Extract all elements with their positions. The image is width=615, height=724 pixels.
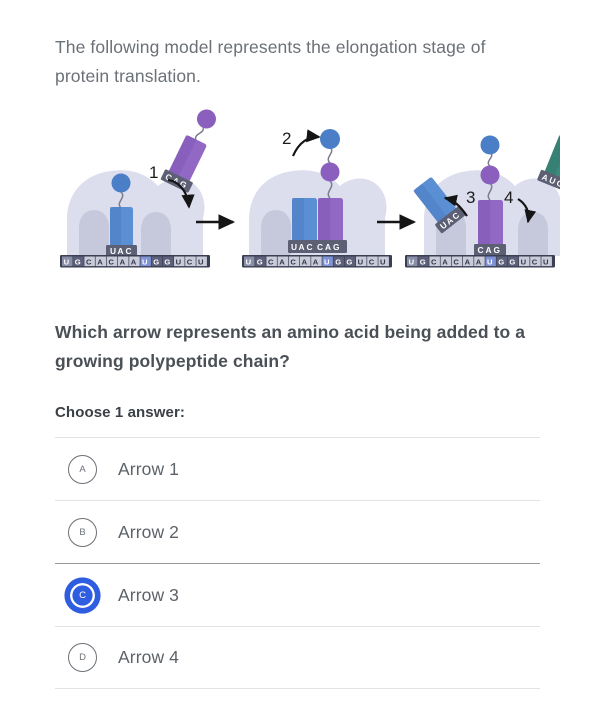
- answer-list: A Arrow 1 B Arrow 2 C Arrow 3 D: [55, 437, 540, 689]
- panel-3: U A C: [405, 108, 560, 267]
- radio-c[interactable]: C: [68, 581, 97, 610]
- panel-1: U A C C A: [60, 108, 225, 268]
- svg-text:A: A: [97, 257, 103, 266]
- amino-acid-purple-ball: [481, 166, 500, 185]
- question-line-1: Which arrow represents an amino acid bei…: [55, 318, 560, 347]
- svg-text:A: A: [325, 242, 331, 252]
- svg-text:A: A: [486, 245, 492, 255]
- svg-text:C: C: [187, 257, 193, 266]
- svg-text:C: C: [108, 257, 114, 266]
- svg-text:U: U: [358, 257, 364, 266]
- question-text: Which arrow represents an amino acid bei…: [55, 318, 560, 376]
- svg-text:U: U: [198, 257, 204, 266]
- svg-text:G: G: [509, 257, 515, 266]
- svg-text:G: G: [335, 257, 341, 266]
- svg-text:U: U: [176, 257, 182, 266]
- svg-text:C: C: [369, 257, 375, 266]
- svg-text:U: U: [64, 257, 70, 266]
- svg-text:G: G: [153, 257, 159, 266]
- answer-option-b[interactable]: B Arrow 2: [55, 500, 540, 563]
- panel-2: U A C C A G 2: [242, 129, 392, 268]
- svg-text:A: A: [131, 257, 137, 266]
- svg-text:U: U: [487, 257, 493, 266]
- svg-text:A: A: [442, 257, 448, 266]
- arrow-1-label: 1: [149, 163, 158, 182]
- radio-c-letter: C: [79, 590, 86, 601]
- amino-acid-purple-ball: [321, 163, 340, 182]
- svg-text:C: C: [86, 257, 92, 266]
- svg-text:C: C: [307, 242, 313, 252]
- svg-text:C: C: [431, 257, 437, 266]
- svg-text:G: G: [75, 257, 81, 266]
- answer-option-d[interactable]: D Arrow 4: [55, 626, 540, 689]
- radio-b-letter: B: [79, 527, 85, 538]
- arrow-2-label: 2: [282, 129, 291, 148]
- svg-text:C: C: [532, 257, 538, 266]
- svg-text:C: C: [478, 245, 484, 255]
- question-line-2: growing polypeptide chain?: [55, 347, 560, 376]
- svg-text:U: U: [110, 246, 116, 256]
- svg-text:G: G: [346, 257, 352, 266]
- answer-option-c[interactable]: C Arrow 3: [55, 563, 540, 626]
- svg-text:U: U: [380, 257, 386, 266]
- svg-text:A: A: [118, 246, 124, 256]
- svg-text:A: A: [302, 257, 308, 266]
- radio-a[interactable]: A: [68, 455, 97, 484]
- svg-text:A: A: [279, 257, 285, 266]
- svg-text:A: A: [120, 257, 126, 266]
- svg-text:G: G: [333, 242, 340, 252]
- radio-d-letter: D: [79, 652, 86, 663]
- amino-acid-purple-ball: [194, 108, 219, 132]
- translation-diagram-svg: U A C C A: [55, 108, 560, 288]
- svg-text:G: G: [164, 257, 170, 266]
- arrow-3-label: 3: [466, 188, 475, 207]
- svg-text:U: U: [291, 242, 297, 252]
- trna-green-incoming: A U G: [537, 108, 560, 192]
- answer-option-a[interactable]: A Arrow 1: [55, 437, 540, 500]
- amino-acid-blue-ball: [320, 129, 340, 149]
- svg-text:U: U: [142, 257, 148, 266]
- prompt-line-2: protein translation.: [55, 62, 560, 91]
- radio-b[interactable]: B: [68, 518, 97, 547]
- svg-text:U: U: [246, 257, 252, 266]
- svg-text:U: U: [409, 257, 415, 266]
- anticodon-platform: U A C C A G: [288, 240, 347, 253]
- svg-text:U: U: [543, 257, 549, 266]
- translation-diagram: U A C C A: [55, 108, 560, 288]
- svg-text:C: C: [268, 257, 274, 266]
- anticodon-cag: C A G: [474, 244, 506, 256]
- anticodon-uac: U A C: [106, 245, 137, 257]
- svg-text:A: A: [313, 257, 319, 266]
- svg-text:U: U: [324, 257, 330, 266]
- mrna-strand-3: U G C A C A A U: [405, 255, 555, 268]
- svg-text:G: G: [498, 257, 504, 266]
- svg-text:C: C: [317, 242, 323, 252]
- amino-acid-blue-ball: [112, 174, 131, 193]
- svg-text:C: C: [290, 257, 296, 266]
- mrna-strand-2: U G C A C A A U: [242, 255, 392, 268]
- svg-text:A: A: [465, 257, 471, 266]
- svg-text:C: C: [453, 257, 459, 266]
- content-column: The following model represents the elong…: [55, 0, 560, 689]
- choose-answer-label: Choose 1 answer:: [55, 402, 560, 423]
- prompt-text: The following model represents the elong…: [55, 33, 560, 91]
- svg-text:G: G: [494, 245, 501, 255]
- svg-text:G: G: [420, 257, 426, 266]
- svg-text:A: A: [299, 242, 305, 252]
- svg-text:G: G: [257, 257, 263, 266]
- arrow-2: 2: [282, 129, 319, 156]
- answer-b-label: Arrow 2: [118, 522, 179, 543]
- radio-d[interactable]: D: [68, 643, 97, 672]
- arrow-4-label: 4: [504, 188, 513, 207]
- question-page: The following model represents the elong…: [0, 0, 615, 724]
- answer-d-label: Arrow 4: [118, 647, 179, 668]
- amino-acid-blue-ball: [481, 136, 500, 155]
- svg-text:C: C: [126, 246, 132, 256]
- svg-text:A: A: [476, 257, 482, 266]
- svg-text:U: U: [521, 257, 527, 266]
- mrna-strand-1: U G C A C A A U: [60, 255, 210, 268]
- prompt-line-1: The following model represents the elong…: [55, 33, 560, 62]
- radio-a-letter: A: [79, 464, 85, 475]
- answer-a-label: Arrow 1: [118, 459, 179, 480]
- answer-c-label: Arrow 3: [118, 585, 179, 606]
